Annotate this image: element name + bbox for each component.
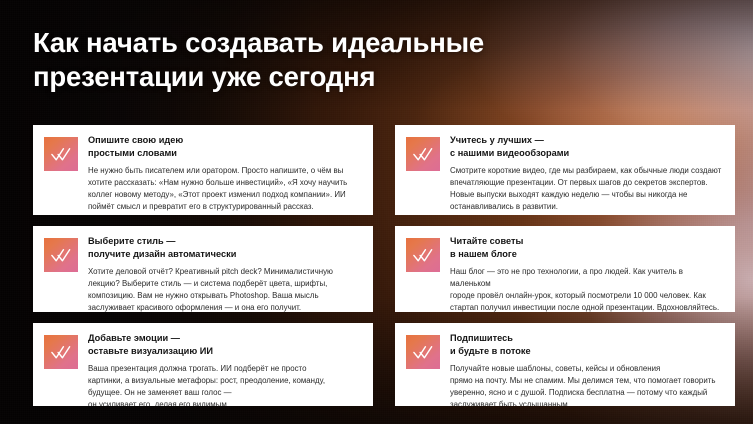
card-body: Читайте советы в нашем блоге Наш блог — … bbox=[450, 235, 723, 312]
double-check-icon bbox=[44, 137, 78, 171]
feature-card[interactable]: Читайте советы в нашем блоге Наш блог — … bbox=[395, 226, 735, 312]
card-title: Опишите свою идею простыми словами bbox=[88, 134, 361, 160]
slide-canvas: Как начать создавать идеальные презентац… bbox=[0, 0, 753, 424]
card-text: Смотрите короткие видео, где мы разбирае… bbox=[450, 165, 723, 213]
card-text: Не нужно быть писателем или оратором. Пр… bbox=[88, 165, 361, 213]
slide-title: Как начать создавать идеальные презентац… bbox=[33, 26, 633, 93]
card-grid: Опишите свою идею простыми словами Не ну… bbox=[33, 125, 735, 406]
card-text: Получайте новые шаблоны, советы, кейсы и… bbox=[450, 363, 723, 406]
feature-card[interactable]: Опишите свою идею простыми словами Не ну… bbox=[33, 125, 373, 215]
feature-card[interactable]: Учитесь у лучших — с нашими видеообзорам… bbox=[395, 125, 735, 215]
double-check-icon bbox=[44, 335, 78, 369]
feature-card[interactable]: Добавьте эмоции — оставьте визуализацию … bbox=[33, 323, 373, 406]
card-title: Выберите стиль — получите дизайн автомат… bbox=[88, 235, 361, 261]
card-body: Опишите свою идею простыми словами Не ну… bbox=[88, 134, 361, 213]
card-body: Учитесь у лучших — с нашими видеообзорам… bbox=[450, 134, 723, 213]
double-check-icon bbox=[406, 137, 440, 171]
card-text: Ваша презентация должна трогать. ИИ подб… bbox=[88, 363, 361, 406]
card-text: Хотите деловой отчёт? Креативный pitch d… bbox=[88, 266, 361, 312]
card-title: Подпишитесь и будьте в потоке bbox=[450, 332, 723, 358]
card-text: Наш блог — это не про технологии, а про … bbox=[450, 266, 723, 312]
card-title: Учитесь у лучших — с нашими видеообзорам… bbox=[450, 134, 723, 160]
card-body: Добавьте эмоции — оставьте визуализацию … bbox=[88, 332, 361, 406]
double-check-icon bbox=[406, 238, 440, 272]
double-check-icon bbox=[406, 335, 440, 369]
feature-card[interactable]: Подпишитесь и будьте в потоке Получайте … bbox=[395, 323, 735, 406]
card-title: Читайте советы в нашем блоге bbox=[450, 235, 723, 261]
feature-card[interactable]: Выберите стиль — получите дизайн автомат… bbox=[33, 226, 373, 312]
card-title: Добавьте эмоции — оставьте визуализацию … bbox=[88, 332, 361, 358]
card-body: Подпишитесь и будьте в потоке Получайте … bbox=[450, 332, 723, 406]
card-body: Выберите стиль — получите дизайн автомат… bbox=[88, 235, 361, 312]
double-check-icon bbox=[44, 238, 78, 272]
